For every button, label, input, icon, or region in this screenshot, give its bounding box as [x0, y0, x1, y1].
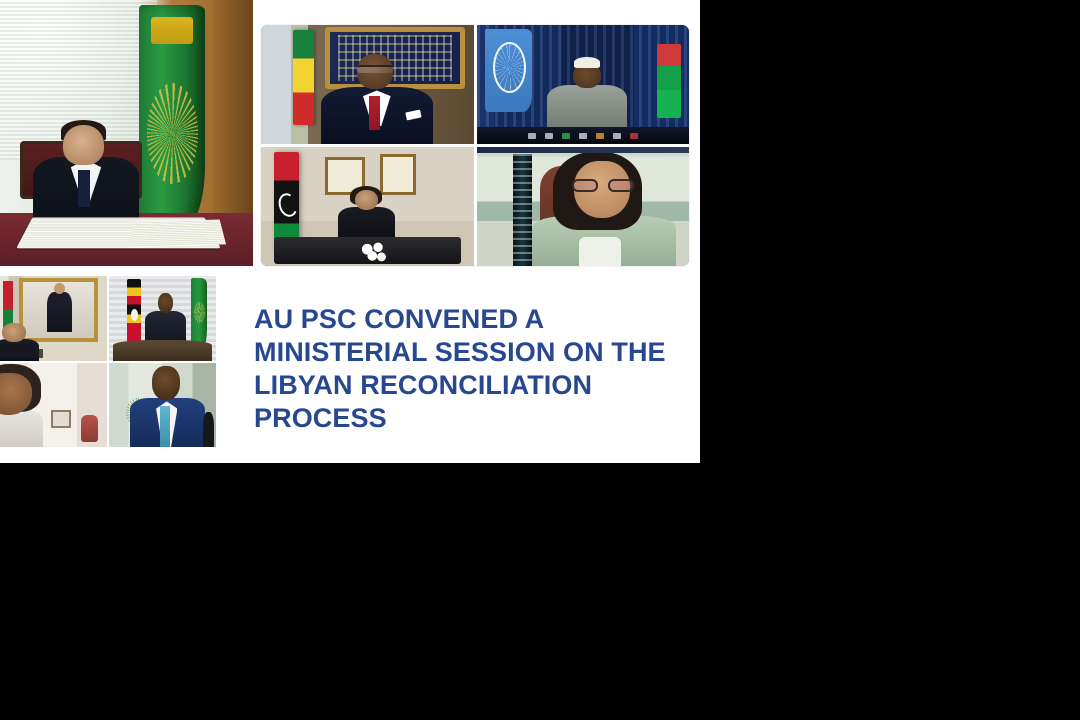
- cluster-cell-4: [109, 363, 216, 448]
- wall-framed-picture: [325, 27, 465, 89]
- participants-icon[interactable]: [596, 133, 604, 139]
- article-card: AU PSC convened a ministerial session on…: [0, 0, 700, 463]
- participant-blouse: [579, 237, 622, 266]
- glasses-lens-left: [572, 179, 598, 192]
- flower-arrangement: [357, 242, 391, 266]
- person-head: [63, 125, 103, 165]
- participant-torso: [145, 311, 186, 341]
- person-tie: [78, 170, 89, 207]
- hero-photo-scene: [0, 0, 253, 266]
- video-conference-grid: [261, 25, 689, 266]
- african-union-flag: [139, 5, 205, 234]
- cluster-cell-2: [109, 276, 216, 361]
- participant-head: [573, 64, 601, 88]
- participant-head: [2, 323, 26, 342]
- participant-head: [158, 293, 173, 313]
- glasses-lens-right: [608, 179, 634, 192]
- portrait-figure: [47, 292, 71, 332]
- libyan-flag: [657, 44, 680, 118]
- wall-picture-frame: [51, 410, 70, 429]
- tile-top-strip: [477, 147, 690, 153]
- mute-icon[interactable]: [528, 133, 536, 139]
- chat-icon[interactable]: [579, 133, 587, 139]
- name-label-bar: [0, 349, 43, 358]
- video-icon[interactable]: [545, 133, 553, 139]
- window-rail: [513, 154, 532, 266]
- royal-portrait-frame: [19, 278, 98, 342]
- participant-glasses: [572, 179, 634, 192]
- video-tile-3: [261, 147, 474, 266]
- microphone: [203, 412, 214, 447]
- leave-meeting-icon[interactable]: [630, 133, 638, 139]
- participant-head: [152, 366, 180, 400]
- cluster-cell-1: [0, 276, 107, 361]
- participant-glasses: [357, 65, 393, 72]
- background-object: [81, 415, 98, 442]
- meeting-toolbar[interactable]: [477, 127, 690, 144]
- video-tile-2: [477, 25, 690, 144]
- record-icon[interactable]: [613, 133, 621, 139]
- participant-cap: [574, 57, 600, 68]
- hero-photo: [0, 0, 253, 266]
- united-nations-flag: [485, 29, 532, 112]
- video-tile-4: [477, 147, 690, 266]
- page-root: AU PSC convened a ministerial session on…: [0, 0, 1080, 720]
- desk: [113, 340, 211, 360]
- share-screen-icon[interactable]: [562, 133, 570, 139]
- african-union-flag: [191, 278, 207, 349]
- article-headline: AU PSC convened a ministerial session on…: [254, 303, 674, 435]
- framed-certificate-right: [380, 154, 416, 194]
- desk-papers-secondary: [129, 220, 226, 248]
- participant-top: [0, 410, 43, 447]
- participant-tie: [369, 96, 380, 129]
- participant-head: [355, 190, 378, 210]
- cluster-cell-3: [0, 363, 107, 448]
- national-flag: [293, 30, 314, 125]
- delegates-photo-cluster: [0, 276, 216, 447]
- participant-tie: [160, 406, 170, 447]
- video-tile-1: [261, 25, 474, 144]
